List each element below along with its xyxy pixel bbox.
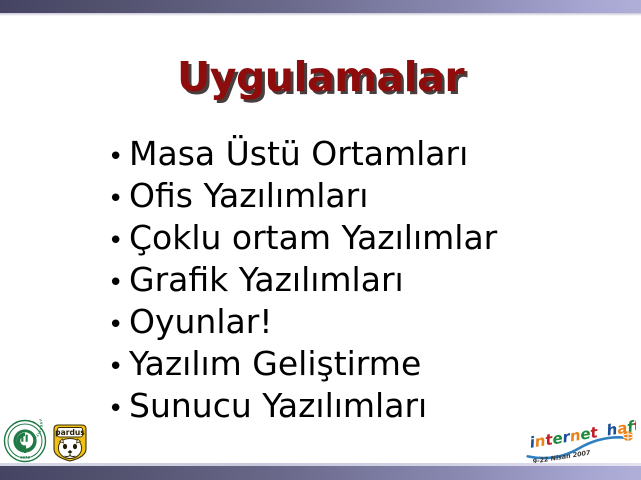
list-item-label: Yazılım Geliştirme <box>129 343 421 385</box>
list-item-label: Grafik Yazılımları <box>129 259 404 301</box>
internet-haftasi-logo-icon: internet haftası 9-22 Nisan 2007 <box>524 418 636 464</box>
list-item: • Grafik Yazılımları <box>108 259 608 301</box>
bullet-point-icon: • <box>108 388 129 430</box>
list-item-label: Masa Üstü Ortamları <box>129 133 468 175</box>
svg-text:pardus: pardus <box>55 428 85 437</box>
svg-text:1973: 1973 <box>20 456 31 460</box>
list-item: • Ofis Yazılımları <box>108 175 608 217</box>
list-item-label: Sunucu Yazılımları <box>129 385 427 427</box>
list-item-label: Oyunlar! <box>129 301 273 343</box>
pardus-logo-icon: pardus <box>48 419 92 463</box>
bullet-point-icon: • <box>108 346 129 388</box>
bullet-point-icon: • <box>108 178 129 220</box>
university-seal-icon: CUKUROVA UNIVERSITESI 1973 <box>3 419 47 463</box>
svg-text:9-22 Nisan 2007: 9-22 Nisan 2007 <box>532 448 592 464</box>
page-title: Uygulamalar <box>0 54 641 100</box>
list-item: • Oyunlar! <box>108 301 608 343</box>
top-bar-fade <box>0 13 641 16</box>
list-item: • Yazılım Geliştirme <box>108 343 608 385</box>
top-gradient-bar <box>0 0 641 13</box>
bottom-gradient-bar <box>0 466 641 480</box>
list-item: • Masa Üstü Ortamları <box>108 133 608 175</box>
list-item: • Çoklu ortam Yazılımlar <box>108 217 608 259</box>
bullet-point-icon: • <box>108 220 129 262</box>
list-item-label: Ofis Yazılımları <box>129 175 368 217</box>
presentation-slide: Uygulamalar • Masa Üstü Ortamları • Ofis… <box>0 0 641 480</box>
bullet-list: • Masa Üstü Ortamları • Ofis Yazılımları… <box>108 133 608 427</box>
list-item-label: Çoklu ortam Yazılımlar <box>129 217 497 259</box>
bullet-point-icon: • <box>108 304 129 346</box>
bullet-point-icon: • <box>108 136 129 178</box>
bullet-point-icon: • <box>108 262 129 304</box>
